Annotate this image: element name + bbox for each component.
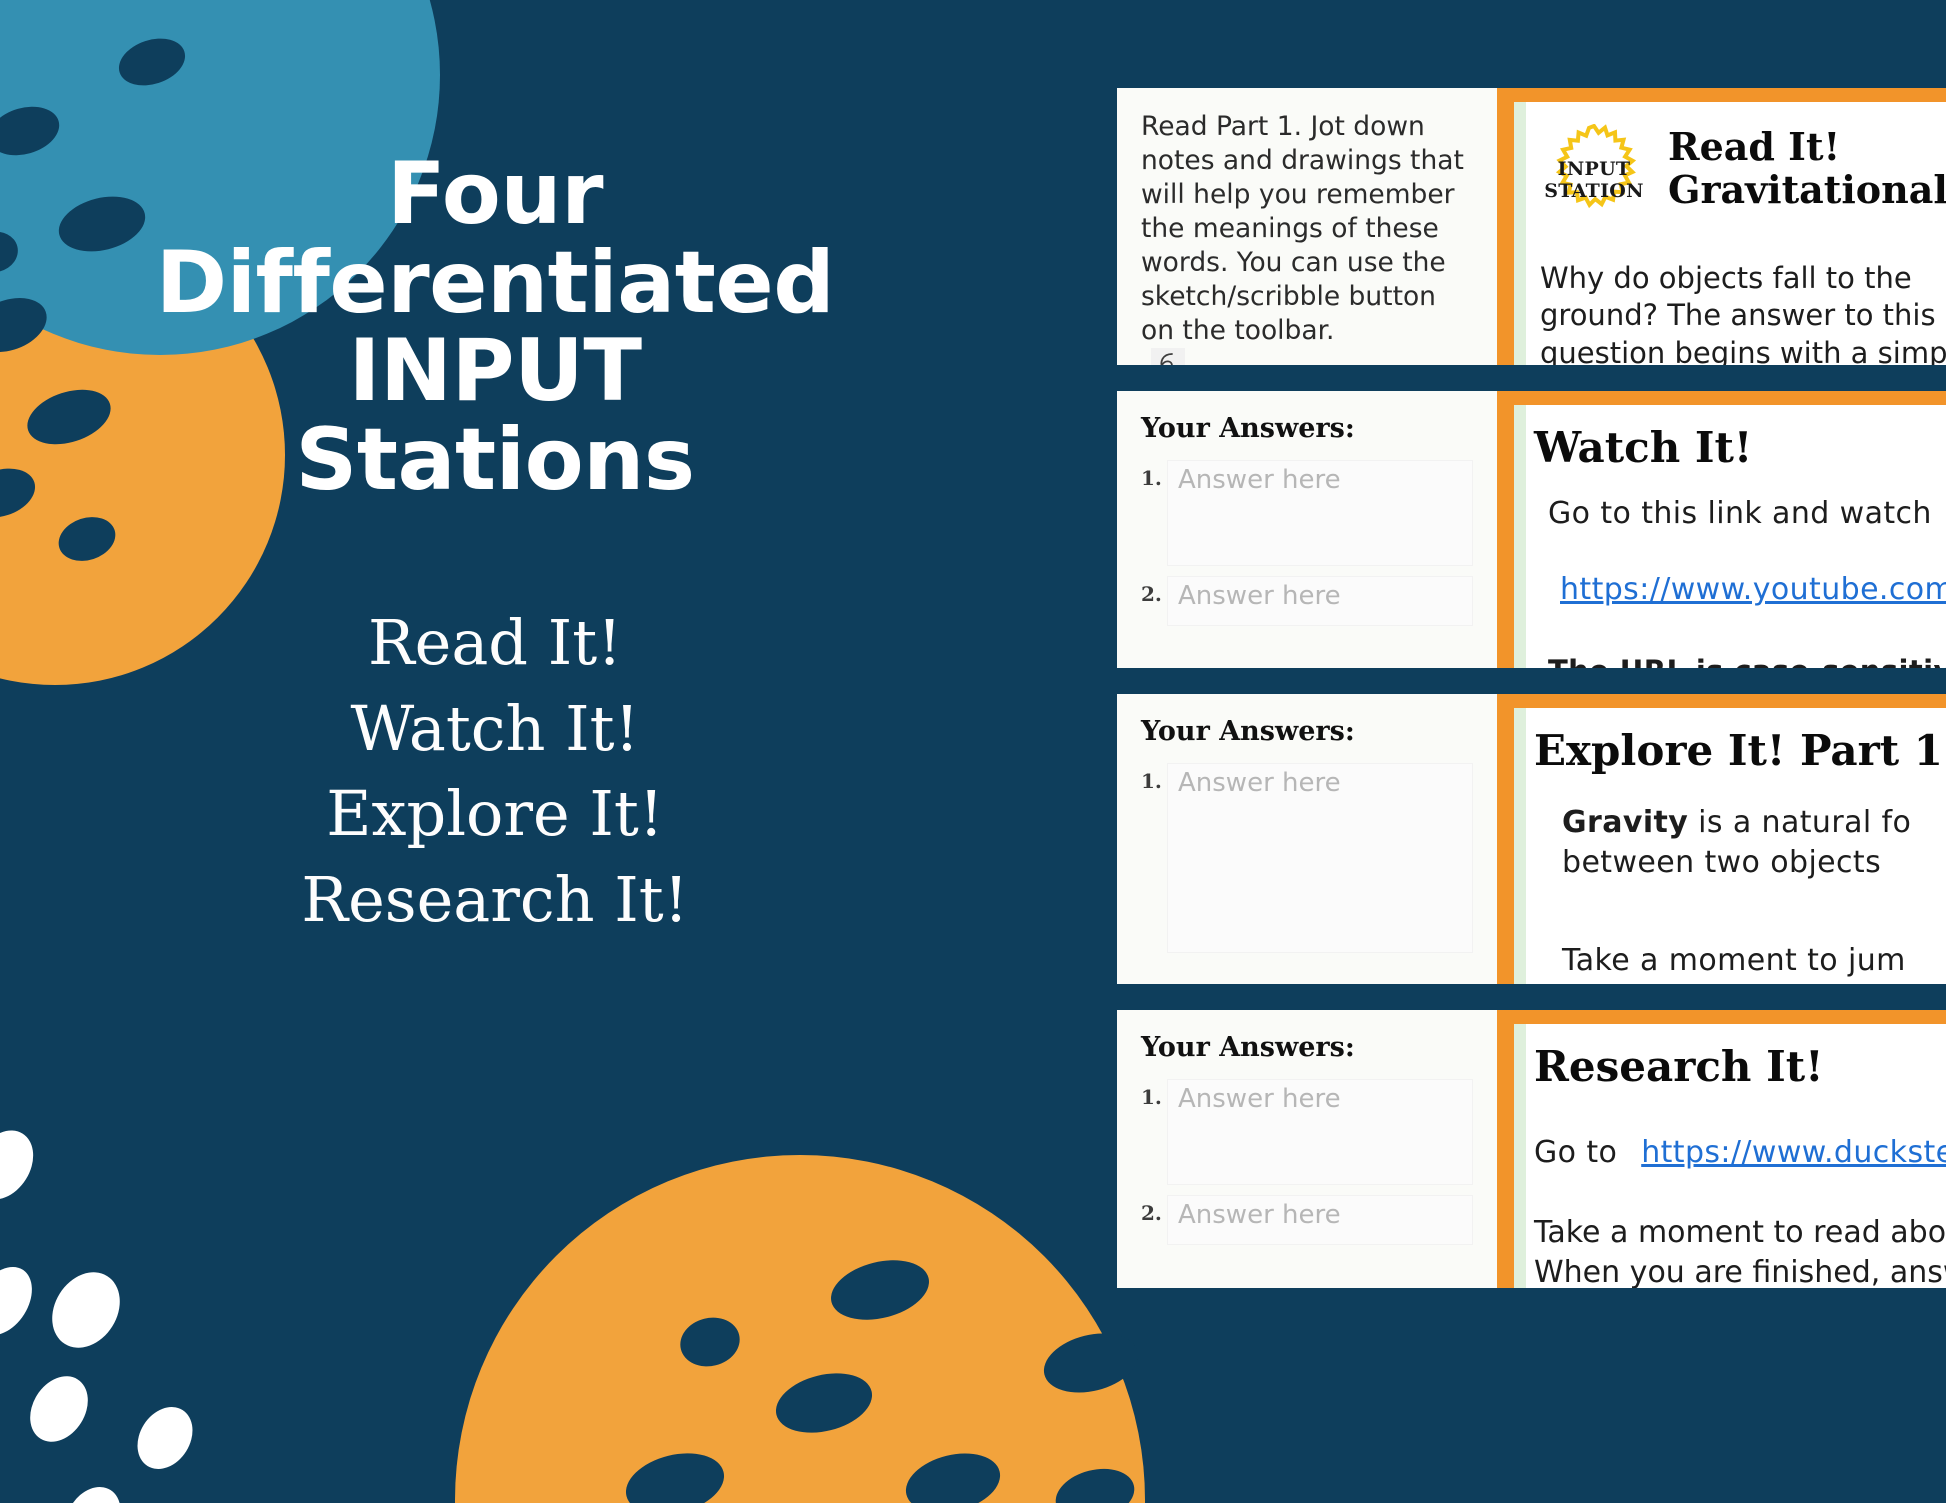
headline-line-3: INPUT — [100, 327, 890, 416]
research-it-link-row[interactable]: Go to https://www.duckste — [1534, 1133, 1946, 1173]
preview-row-research-it[interactable]: Your Answers: 1. Answer here 2. Answer h… — [1117, 1010, 1946, 1288]
ducksters-link[interactable]: https://www.duckste — [1641, 1135, 1946, 1170]
watch-it-content-pane[interactable]: Watch It! Go to this link and watch http… — [1500, 391, 1946, 668]
headline-line-4: Stations — [100, 416, 890, 505]
notes-pane[interactable]: Read Part 1. Jot down notes and drawings… — [1117, 88, 1500, 365]
watch-it-instruction: Go to this link and watch — [1548, 494, 1946, 534]
deco-dot — [900, 1444, 1007, 1503]
answer-number: 1. — [1141, 763, 1167, 793]
deco-dot — [39, 1260, 134, 1361]
research-it-body-line-2: When you are finished, answer — [1534, 1253, 1946, 1288]
explore-it-body-line-1: Gravity is a natural fo — [1562, 803, 1946, 843]
notes-instructions: Read Part 1. Jot down notes and drawings… — [1141, 110, 1473, 348]
explore-it-heading: Explore It! Part 1 — [1534, 726, 1946, 775]
station-list-item-explore: Explore It! — [100, 771, 890, 857]
research-it-content-pane[interactable]: Research It! Go to https://www.duckste T… — [1500, 1010, 1946, 1288]
document-preview-stack: Read Part 1. Jot down notes and drawings… — [1117, 88, 1946, 1488]
youtube-link[interactable]: https://www.youtube.com — [1560, 572, 1946, 607]
station-list-item-watch: Watch It! — [100, 686, 890, 772]
answers-title: Your Answers: — [1141, 1032, 1473, 1063]
deco-dot — [0, 460, 41, 525]
row-divider — [1117, 984, 1946, 1010]
answer-input[interactable]: Answer here — [1167, 1079, 1473, 1185]
watch-it-case-note: The URL is case-sensitiv — [1548, 652, 1946, 668]
badge-line-1: INPUT — [1540, 158, 1648, 180]
row-divider — [1117, 668, 1946, 694]
headline-line-2: Differentiated — [100, 239, 890, 328]
answers-pane[interactable]: Your Answers: 1. Answer here — [1117, 694, 1500, 984]
deco-dot — [54, 1477, 131, 1503]
answer-number: 2. — [1141, 576, 1167, 606]
green-edge-strip — [1514, 708, 1526, 984]
deco-dot — [770, 1364, 879, 1442]
research-it-heading: Research It! — [1534, 1042, 1946, 1091]
input-station-badge: INPUT STATION — [1540, 124, 1648, 232]
deco-dot — [825, 1251, 936, 1330]
deco-dot — [675, 1311, 745, 1372]
read-it-heading-line2: Gravitational Fo — [1668, 169, 1946, 212]
explore-it-body-line-3: Take a moment to jum — [1562, 941, 1946, 981]
answers-pane[interactable]: Your Answers: 1. Answer here 2. Answer h… — [1117, 1010, 1500, 1288]
preview-row-read-it[interactable]: Read Part 1. Jot down notes and drawings… — [1117, 88, 1946, 365]
answer-placeholder: Answer here — [1178, 1200, 1341, 1230]
deco-dot — [0, 1256, 44, 1345]
station-list: Read It! Watch It! Explore It! Research … — [100, 600, 890, 942]
explore-it-body-line-2: between two objects — [1562, 843, 1946, 883]
answers-pane[interactable]: Your Answers: 1. Answer here 2. Answer h… — [1117, 391, 1500, 668]
answers-title: Your Answers: — [1141, 716, 1473, 747]
answer-input[interactable]: Answer here — [1167, 460, 1473, 566]
green-edge-strip — [1514, 1024, 1526, 1288]
answer-placeholder: Answer here — [1178, 1084, 1341, 1114]
deco-dot — [126, 1397, 203, 1479]
read-it-body-line-3: question begins with a simple — [1540, 335, 1946, 365]
research-it-goto-label: Go to — [1534, 1135, 1617, 1170]
watch-it-heading: Watch It! — [1534, 423, 1946, 472]
station-list-item-read: Read It! — [100, 600, 890, 686]
deco-dot — [619, 1444, 730, 1503]
answer-number: 1. — [1141, 1079, 1167, 1109]
watch-it-link-row[interactable]: https://www.youtube.com — [1560, 570, 1946, 610]
green-edge-strip — [1514, 405, 1526, 668]
answer-item[interactable]: 1. Answer here — [1141, 460, 1473, 566]
read-it-heading-line1: Read It! — [1668, 126, 1946, 169]
read-it-body-line-2: ground? The answer to this — [1540, 297, 1946, 334]
answer-input[interactable]: Answer here — [1167, 576, 1473, 626]
answer-placeholder: Answer here — [1178, 768, 1341, 798]
answer-item[interactable]: 1. Answer here — [1141, 1079, 1473, 1185]
preview-row-watch-it[interactable]: Your Answers: 1. Answer here 2. Answer h… — [1117, 391, 1946, 668]
deco-dot — [113, 31, 191, 94]
row-divider — [1117, 365, 1946, 391]
answer-item[interactable]: 2. Answer here — [1141, 576, 1473, 626]
deco-dot — [18, 1366, 99, 1453]
green-edge-strip — [1514, 102, 1526, 365]
explore-it-content-pane[interactable]: Explore It! Part 1 Gravity is a natural … — [1500, 694, 1946, 984]
answer-number: 1. — [1141, 460, 1167, 490]
deco-dot — [0, 1119, 46, 1210]
answer-placeholder: Answer here — [1178, 581, 1341, 611]
answers-title: Your Answers: — [1141, 413, 1473, 444]
research-it-body-line-1: Take a moment to read about — [1534, 1213, 1946, 1253]
deco-dot — [0, 227, 22, 277]
explore-it-keyword: Gravity — [1562, 805, 1688, 840]
deco-dot — [0, 99, 65, 163]
station-list-item-research: Research It! — [100, 857, 890, 943]
page-title: Four Differentiated INPUT Stations — [100, 150, 890, 504]
preview-row-explore-it[interactable]: Your Answers: 1. Answer here Explore It!… — [1117, 694, 1946, 984]
orange-blob-bottom — [455, 1155, 1145, 1503]
headline-line-1: Four — [100, 150, 890, 239]
answer-item[interactable]: 1. Answer here — [1141, 763, 1473, 953]
explore-it-body-tail: is a natural fo — [1688, 805, 1911, 840]
read-it-content-pane[interactable]: INPUT STATION Read It! Gravitational Fo … — [1500, 88, 1946, 365]
answer-input[interactable]: Answer here — [1167, 763, 1473, 953]
scribble-icon[interactable] — [1151, 348, 1185, 365]
answer-placeholder: Answer here — [1178, 465, 1341, 495]
read-it-body-line-1: Why do objects fall to the — [1540, 260, 1946, 297]
deco-dot — [0, 288, 54, 362]
badge-line-2: STATION — [1540, 180, 1648, 202]
answer-input[interactable]: Answer here — [1167, 1195, 1473, 1245]
answer-item[interactable]: 2. Answer here — [1141, 1195, 1473, 1245]
answer-number: 2. — [1141, 1195, 1167, 1225]
hero-text-block: Four Differentiated INPUT Stations Read … — [100, 150, 890, 943]
